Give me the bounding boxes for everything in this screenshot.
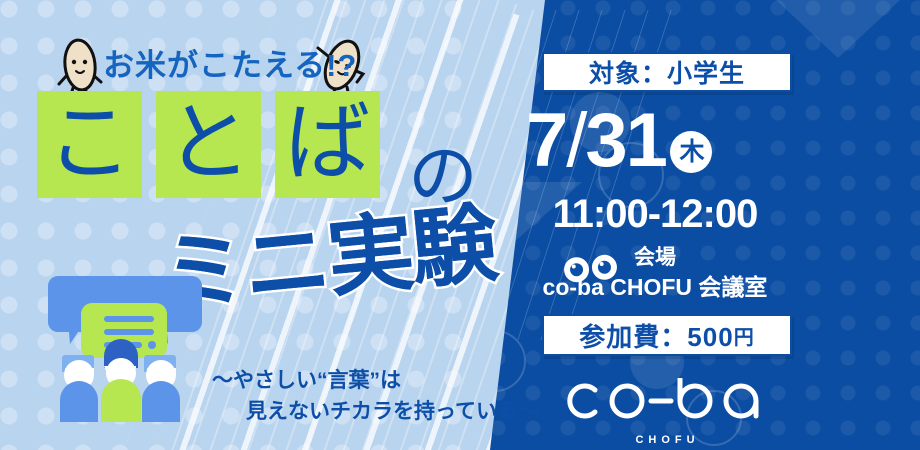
title-char-2: と: [166, 100, 252, 186]
venue-label: 会場: [634, 246, 676, 269]
catch-copy: お米がこたえる!?: [103, 40, 357, 85]
event-month: 7: [526, 103, 566, 179]
info-panel: 対象：小学生 7 / 31 木 11:00-12:00 会場 co-ba CHO…: [490, 0, 920, 450]
fee-badge: 参加費：500 円: [542, 314, 792, 356]
title-box-2: と: [156, 91, 261, 198]
fee-currency-unit: 円: [734, 321, 755, 350]
title-char-1: こ: [47, 100, 133, 186]
co-ba-logo-sub: CHOFU: [555, 434, 775, 446]
people-with-speech-bubbles-icon: [30, 272, 208, 447]
subtitle-line-1: 〜やさしい“言葉”は: [212, 369, 401, 392]
target-audience-label: 対象：小学生: [589, 54, 745, 90]
venue-block: 会場 co-ba CHOFU 会議室: [510, 244, 800, 303]
fee-label: 参加費：500: [579, 317, 733, 354]
co-ba-wordmark-icon: [555, 378, 775, 424]
title-boxed-characters: こ と ば: [37, 91, 380, 198]
title-box-1: こ: [37, 91, 142, 198]
event-banner: お米がこたえる!? こ と ば の ミニ実験 ミニ実験 〜やさしい“言葉”は 見…: [0, 0, 920, 450]
venue-name: co-ba CHOFU 会議室: [510, 272, 800, 303]
event-day: 31: [585, 103, 666, 179]
co-ba-logo: CHOFU: [555, 378, 775, 446]
title-box-3: ば: [275, 91, 380, 198]
title-char-3: ば: [285, 100, 371, 186]
weekday-badge: 木: [670, 131, 712, 173]
target-audience-badge: 対象：小学生: [542, 52, 792, 92]
event-date: 7 / 31 木: [526, 103, 712, 179]
event-time: 11:00-12:00: [526, 192, 784, 237]
date-separator: /: [566, 103, 585, 179]
